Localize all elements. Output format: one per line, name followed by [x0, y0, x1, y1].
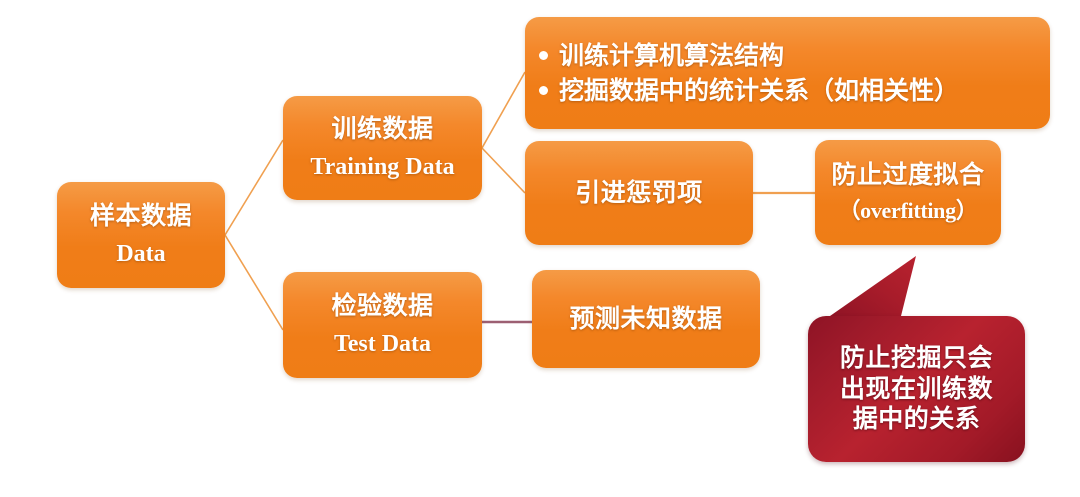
node-training-purposes[interactable]: 训练计算机算法结构 挖掘数据中的统计关系（如相关性）	[525, 17, 1050, 129]
callout-line: 据中的关系	[840, 404, 993, 435]
node-predict-unknown-data-cn: 预测未知数据	[569, 305, 722, 334]
node-penalty-term-cn: 引进惩罚项	[575, 179, 703, 208]
connector-training-to-penalty	[482, 148, 525, 193]
node-prevent-overfitting-cn: 防止过度拟合	[831, 161, 984, 190]
callout-line: 防止挖掘只会	[840, 343, 993, 374]
list-item-label: 训练计算机算法结构	[559, 41, 784, 71]
node-test-data-en: Test Data	[334, 331, 431, 359]
node-training-data-en: Training Data	[310, 154, 454, 182]
node-prevent-overfitting-en: （overfitting）	[838, 198, 977, 223]
node-sample-data[interactable]: 样本数据 Data	[57, 182, 225, 288]
node-penalty-term[interactable]: 引进惩罚项	[525, 141, 753, 245]
connector-sample-to-training	[225, 140, 283, 235]
callout-bubble[interactable]: 防止挖掘只会 出现在训练数 据中的关系	[808, 316, 1025, 462]
node-sample-data-cn: 样本数据	[90, 202, 192, 231]
node-test-data[interactable]: 检验数据 Test Data	[283, 272, 482, 378]
node-sample-data-en: Data	[116, 241, 165, 269]
node-prevent-overfitting[interactable]: 防止过度拟合 （overfitting）	[815, 140, 1001, 245]
list-item: 训练计算机算法结构	[539, 41, 784, 71]
node-predict-unknown-data[interactable]: 预测未知数据	[532, 270, 760, 368]
connector-training-to-bullets	[482, 72, 525, 148]
diagram-canvas: 样本数据 Data 训练数据 Training Data 检验数据 Test D…	[0, 0, 1080, 497]
node-training-data[interactable]: 训练数据 Training Data	[283, 96, 482, 200]
node-training-data-cn: 训练数据	[331, 115, 433, 144]
list-item-label: 挖掘数据中的统计关系（如相关性）	[559, 76, 959, 106]
callout-bubble-text: 防止挖掘只会 出现在训练数 据中的关系	[840, 343, 993, 435]
bullet-dot-icon	[539, 51, 548, 60]
list-item: 挖掘数据中的统计关系（如相关性）	[539, 76, 959, 106]
connector-sample-to-test	[225, 235, 283, 330]
callout-line: 出现在训练数	[840, 374, 993, 405]
node-test-data-cn: 检验数据	[331, 292, 433, 321]
bullet-dot-icon	[539, 86, 548, 95]
